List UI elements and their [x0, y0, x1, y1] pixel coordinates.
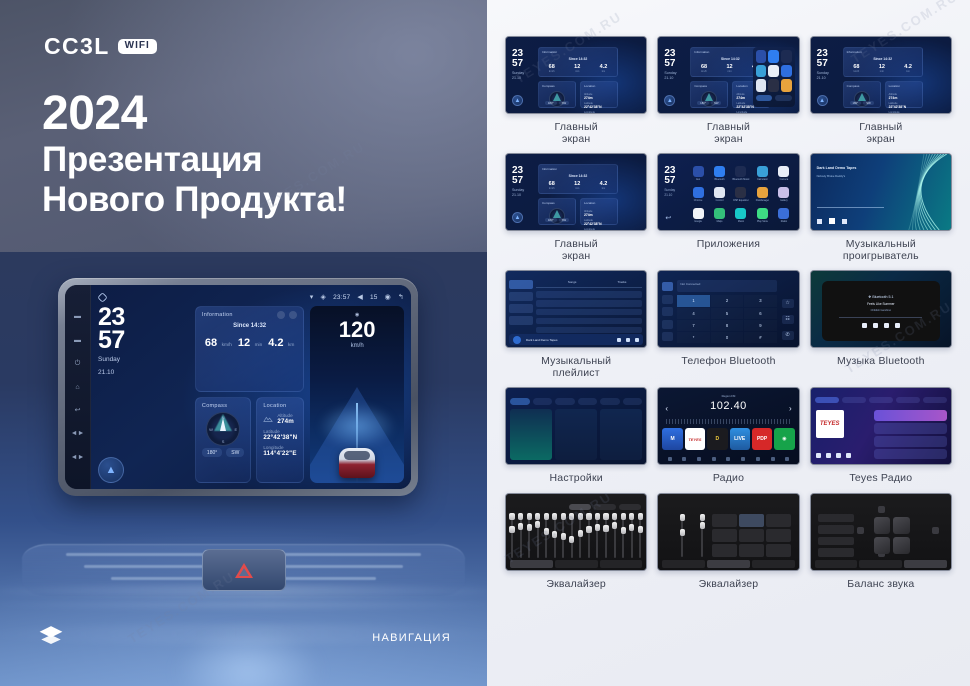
screen-cell-2[interactable]: 2357 Sunday21.10 ▲ Information Since 14:…: [657, 36, 799, 145]
list-item[interactable]: [536, 327, 642, 333]
radio-toolbar[interactable]: [662, 455, 794, 462]
vol-down-key[interactable]: ▬: [74, 337, 81, 344]
app-tile-filemanager[interactable]: FileManager: [753, 185, 772, 204]
app-tile-calculator[interactable]: Calculator: [753, 164, 772, 183]
eq-slider-thumb[interactable]: [638, 526, 643, 533]
mini-radio-screen[interactable]: Region FM ‹ 102.40 › M TEYES D LIVE PDP …: [658, 388, 798, 464]
information-card[interactable]: Information Since 14:32 68: [195, 306, 304, 392]
eq-band-13[interactable]: [614, 513, 616, 558]
eq-slider-thumb[interactable]: [527, 524, 532, 531]
tab-theme[interactable]: [578, 398, 598, 405]
preset-pop[interactable]: [619, 504, 641, 510]
app-tile-camera[interactable]: Camera: [774, 164, 793, 183]
mini-location-card[interactable]: Location Altitude274m Latitude22°42'38"N…: [580, 198, 618, 225]
preset-4[interactable]: [818, 548, 854, 557]
screen-thumbnail[interactable]: [657, 493, 799, 571]
mini-bluetooth-music[interactable]: ❖ Bluetooth 5.1 Feels Like Summer Childi…: [811, 271, 951, 347]
hazard-button[interactable]: [202, 549, 286, 591]
eq-slider-thumb[interactable]: [544, 528, 549, 535]
screen-cell-8[interactable]: Not Connected 123456789*0# ☆☷✆ Телефон B…: [657, 270, 799, 379]
stat-time-unit: min: [255, 343, 263, 348]
navigation-fab-button[interactable]: ▲: [98, 457, 124, 483]
preset-4[interactable]: [712, 529, 737, 542]
app-icon-aux[interactable]: [756, 50, 767, 63]
sidebar-item-tracks[interactable]: [509, 280, 533, 289]
preset-5[interactable]: [739, 529, 764, 542]
app-tile-radio[interactable]: Radio: [774, 206, 793, 225]
prev-icon[interactable]: [862, 323, 867, 328]
equalizer-presets[interactable]: [511, 504, 641, 510]
screen-thumbnail[interactable]: 2357 Sunday21.10 ▲ Information Since 14:…: [657, 36, 799, 114]
screen-thumbnail[interactable]: ❖ Bluetooth 5.1 Feels Like Summer Childi…: [810, 270, 952, 348]
eq-slider-thumb[interactable]: [629, 524, 634, 531]
eq-band-4[interactable]: [537, 513, 539, 558]
list-item[interactable]: [536, 300, 642, 306]
tab-fader[interactable]: [859, 560, 902, 568]
app-icon-camera[interactable]: [768, 65, 779, 78]
screen-thumbnail[interactable]: Dark Land Demo Tapes Nobody Broke Daddy'…: [810, 153, 952, 231]
eq-slider-thumb[interactable]: [561, 533, 566, 540]
power-key[interactable]: ⏻: [75, 360, 81, 367]
dialer-actions[interactable]: ☆☷✆: [780, 295, 796, 343]
preset-6[interactable]: [766, 529, 791, 542]
navigation-arrow-icon: ▲: [106, 464, 117, 476]
tab-field[interactable]: [600, 560, 643, 568]
preset-1[interactable]: M: [662, 428, 682, 450]
playlist-rows[interactable]: [536, 291, 642, 333]
screen-cell-11[interactable]: Region FM ‹ 102.40 › M TEYES D LIVE PDP …: [657, 387, 799, 484]
dial-key-8[interactable]: 8: [711, 320, 743, 331]
player-controls[interactable]: [817, 218, 847, 224]
mini-location-card[interactable]: Location Altitude274m Latitude22°42'38"N…: [580, 81, 618, 108]
tab-2[interactable]: [842, 397, 866, 403]
list-item[interactable]: [874, 436, 947, 447]
home-icon[interactable]: [97, 292, 107, 302]
next-station-icon[interactable]: ›: [789, 404, 792, 413]
app-icon-calculator[interactable]: [756, 65, 767, 78]
app-icon-dsp-equalizer[interactable]: [768, 79, 779, 92]
toolbar-icon-3[interactable]: [712, 457, 716, 461]
equalizer-tabs[interactable]: [510, 560, 642, 568]
eq-band-3[interactable]: [528, 513, 530, 558]
back-icon[interactable]: ↩: [665, 214, 671, 222]
pause-icon[interactable]: [626, 338, 630, 342]
stop-icon[interactable]: [826, 453, 831, 458]
mini-home-screen[interactable]: 2357 Sunday21.10 ▲ Information Since 14:…: [811, 37, 951, 113]
screen-cell-3[interactable]: 2357 Sunday21.10 ▲ Information Since 14:…: [810, 36, 952, 145]
back-icon[interactable]: ↰: [398, 293, 404, 301]
mini-compass-card[interactable]: Compass 180°SW: [843, 81, 881, 108]
eq-band-9[interactable]: [579, 513, 581, 558]
mini-apps-screen[interactable]: 2357 Sunday21.10 ↩ AuxBluetoothBluetooth…: [658, 154, 798, 230]
screen-cell-7[interactable]: SongsTracks Dark Land Demo Tapes Музыкал…: [505, 270, 647, 379]
mini-home-screen[interactable]: 2357 Sunday21.10 ▲ Information Since 14:…: [506, 154, 646, 230]
screen-thumbnail[interactable]: 2357 Sunday21.10 ▲ Information Since 14:…: [810, 36, 952, 114]
preset-3[interactable]: [766, 514, 791, 527]
dock-button-1[interactable]: [756, 95, 773, 101]
next-icon[interactable]: [842, 219, 847, 224]
radio-tuning-scale[interactable]: [666, 419, 790, 424]
app-icon-chrome: [693, 187, 704, 198]
sound-presets-grid[interactable]: [712, 514, 791, 557]
mini-bluetooth-phone[interactable]: Not Connected 123456789*0# ☆☷✆: [658, 271, 798, 347]
tab-sound[interactable]: [533, 398, 553, 405]
app-tile-music[interactable]: Music: [731, 206, 750, 225]
toolbar-icon-8[interactable]: [785, 457, 789, 461]
screen-cell-5[interactable]: 2357 Sunday21.10 ↩ AuxBluetoothBluetooth…: [657, 153, 799, 262]
eq-slider-thumb[interactable]: [518, 523, 523, 530]
app-tile-dsp-equalizer[interactable]: DSP Equalizer: [731, 185, 750, 204]
sidebar-item-recents[interactable]: [662, 320, 673, 329]
dial-key-1[interactable]: 1: [677, 295, 709, 306]
play-pause-icon[interactable]: [873, 323, 878, 328]
preset-2[interactable]: [818, 525, 854, 534]
slider-bass[interactable]: [681, 514, 683, 557]
preset-1[interactable]: [818, 514, 854, 523]
app-tile-aux[interactable]: Aux: [688, 164, 707, 183]
hud-panel[interactable]: ◉ 120 km/h: [310, 306, 404, 483]
mini-equalizer[interactable]: [506, 494, 646, 570]
preset-6[interactable]: ◉: [774, 428, 794, 450]
back-key[interactable]: ↩: [75, 407, 81, 414]
progress-bar[interactable]: [839, 317, 922, 318]
toolbar-icon-0[interactable]: [668, 457, 672, 461]
eq-band-6[interactable]: [554, 513, 556, 558]
slider-treble[interactable]: [701, 514, 703, 557]
fader-slider-thumb[interactable]: [680, 529, 685, 536]
screen-cell-1[interactable]: 2357 Sunday21.10 ▲ Information Since 14:…: [505, 36, 647, 145]
contacts-icon[interactable]: ☷: [782, 315, 794, 324]
mini-compass-card[interactable]: Compass 180°SW: [538, 198, 576, 225]
eq-slider-thumb[interactable]: [612, 522, 617, 529]
mini-clock: 2357: [664, 166, 675, 185]
tab-songs[interactable]: Songs: [568, 280, 577, 284]
preset-1[interactable]: [712, 514, 737, 527]
app-icon-chrome[interactable]: [781, 65, 792, 78]
dialer-keypad[interactable]: 123456789*0#: [677, 295, 776, 343]
tab-system[interactable]: [623, 398, 643, 405]
vol-up-key[interactable]: ▬: [74, 313, 81, 320]
eq-slider-thumb[interactable]: [586, 526, 591, 533]
information-card-actions[interactable]: [277, 311, 297, 319]
mini-stats: 68km/h12min4.2km: [539, 64, 617, 73]
station-list[interactable]: [874, 410, 947, 459]
eq-band-11[interactable]: [596, 513, 598, 558]
tab-fader[interactable]: [707, 560, 750, 568]
screen-thumbnail[interactable]: [505, 387, 647, 465]
mini-information-card[interactable]: Information Since 14:32 68km/h12min4.2km: [538, 164, 618, 194]
mini-compass-card[interactable]: Compass 180°SW: [690, 81, 728, 108]
preset-2[interactable]: [739, 514, 764, 527]
playlist-sidebar[interactable]: [509, 280, 533, 333]
eq-band-8[interactable]: [571, 513, 573, 558]
app-tile-control[interactable]: Control: [710, 185, 729, 204]
list-item[interactable]: [536, 309, 642, 315]
app-tile-play-store[interactable]: Play Store: [753, 206, 772, 225]
balance-left-arrow[interactable]: [857, 527, 864, 534]
mini-location-values: Altitude274m Latitude22°42'38"N Longitud…: [584, 91, 614, 114]
screen-thumbnail[interactable]: [810, 493, 952, 571]
mini-music-player[interactable]: Dark Land Demo Tapes Nobody Broke Daddy'…: [811, 154, 951, 230]
car-model-graphic: [339, 448, 375, 478]
sidebar-item-keypad[interactable]: [662, 282, 673, 291]
playlist-player-bar[interactable]: Dark Land Demo Tapes: [509, 334, 643, 345]
prev-icon[interactable]: [816, 453, 821, 458]
screen-thumbnail[interactable]: 2357 Sunday21.10 ↩ AuxBluetoothBluetooth…: [657, 153, 799, 231]
fader-slider-thumb[interactable]: [700, 522, 705, 529]
tab-fader[interactable]: [555, 560, 598, 568]
screen-thumbnail[interactable]: 2357 Sunday21.10 ▲ Information Since 14:…: [505, 36, 647, 114]
eq-slider-thumb[interactable]: [535, 521, 540, 528]
mini-teyes-radio[interactable]: TEYES: [811, 388, 951, 464]
toolbar-icon-6[interactable]: [756, 457, 760, 461]
preset-4[interactable]: LIVE: [730, 428, 750, 450]
eq-band-12[interactable]: [605, 513, 607, 558]
app-tile-maps[interactable]: Maps: [710, 206, 729, 225]
playlist-tabs[interactable]: SongsTracks: [536, 280, 642, 288]
eq-slider-thumb[interactable]: [578, 530, 583, 537]
mini-playlist-screen[interactable]: SongsTracks Dark Land Demo Tapes: [506, 271, 646, 347]
dial-key-0[interactable]: 0: [711, 332, 743, 343]
preset-8[interactable]: [739, 544, 764, 557]
screen-thumbnail[interactable]: SongsTracks Dark Land Demo Tapes: [505, 270, 647, 348]
teyes-radio-tabs[interactable]: [815, 397, 947, 403]
information-stats: 68 km/h 12 min 4.2: [202, 333, 297, 351]
compass-card[interactable]: Compass N S W E: [195, 397, 251, 483]
mini-compass-title: Compass: [542, 84, 555, 88]
eq-slider-thumb[interactable]: [569, 536, 574, 543]
preset-2[interactable]: TEYES: [685, 428, 705, 450]
screen-thumbnail[interactable]: Not Connected 123456789*0# ☆☷✆: [657, 270, 799, 348]
refresh-icon[interactable]: [289, 311, 297, 319]
prev-icon[interactable]: [617, 338, 621, 342]
app-tile-google[interactable]: Google: [688, 206, 707, 225]
screen-thumbnail[interactable]: 2357 Sunday21.10 ▲ Information Since 14:…: [505, 153, 647, 231]
dial-key-*[interactable]: *: [677, 332, 709, 343]
home-key[interactable]: ⌂: [75, 384, 79, 391]
screen-cell-12[interactable]: TEYES Teyes Радио: [810, 387, 952, 484]
settings-card-traffic usage[interactable]: [555, 409, 597, 460]
toolbar-icon-1[interactable]: [682, 457, 686, 461]
settings-card-wifi[interactable]: [510, 409, 552, 460]
screen-cell-15[interactable]: Баланс звука: [810, 493, 952, 590]
apps-icon[interactable]: ◉: [385, 293, 391, 301]
seat-fl[interactable]: [874, 517, 891, 534]
settings-tabs[interactable]: [510, 398, 642, 405]
mini-home-screen[interactable]: 2357 Sunday21.10 ▲ Information Since 14:…: [506, 37, 646, 113]
screen-thumbnail[interactable]: TEYES: [810, 387, 952, 465]
eq-band-10[interactable]: [588, 513, 590, 558]
settings-icon[interactable]: [277, 311, 285, 319]
tab-eq[interactable]: [662, 560, 705, 568]
tab-1[interactable]: [815, 397, 839, 403]
preset-7[interactable]: [712, 544, 737, 557]
bt-track-artist: Childish Gambino: [871, 309, 891, 312]
screen-thumbnail[interactable]: [505, 493, 647, 571]
preset-flat[interactable]: [569, 504, 591, 510]
tab-eq[interactable]: [815, 560, 858, 568]
dialer-sidebar[interactable]: [661, 280, 674, 343]
list-item[interactable]: [874, 423, 947, 434]
nav-key[interactable]: ◄►: [71, 430, 85, 437]
screen-cell-14[interactable]: Эквалайзер: [657, 493, 799, 590]
eq-slider-thumb[interactable]: [509, 526, 514, 533]
seat-fr[interactable]: [893, 517, 910, 534]
sidebar-item-favorites[interactable]: [509, 304, 533, 313]
list-item[interactable]: [874, 410, 947, 421]
balance-seat-pad[interactable]: [871, 514, 913, 557]
teyes-controls[interactable]: [816, 453, 858, 458]
next-icon[interactable]: [635, 338, 639, 342]
sidebar-item-contacts[interactable]: [662, 295, 673, 304]
apps-grid[interactable]: AuxBluetoothBluetooth MusicCalculatorCam…: [688, 164, 793, 225]
dial-key-7[interactable]: 7: [677, 320, 709, 331]
eq-slider-thumb[interactable]: [603, 525, 608, 532]
eq-slider-thumb[interactable]: [621, 527, 626, 534]
mute-key[interactable]: ◄►: [71, 454, 85, 461]
eq-band-14[interactable]: [622, 513, 624, 558]
tab-5[interactable]: [923, 397, 947, 403]
dial-key-2[interactable]: 2: [711, 295, 743, 306]
balance-right-arrow[interactable]: [932, 527, 939, 534]
mini-information-card[interactable]: Information Since 14:32 68km/h12min4.2km: [843, 47, 923, 77]
call-icon[interactable]: ✆: [782, 331, 794, 340]
equalizer-tabs[interactable]: [662, 560, 794, 568]
app-tile-gallery[interactable]: Gallery: [774, 185, 793, 204]
app-icon-filemanager[interactable]: [781, 79, 792, 92]
balance-up-arrow[interactable]: [878, 506, 885, 513]
settings-cards[interactable]: [510, 409, 642, 460]
now-playing-title: Dark Land Demo Tapes: [526, 338, 612, 342]
radio-presets[interactable]: M TEYES D LIVE PDP ◉: [662, 428, 794, 450]
preset-3[interactable]: [818, 537, 854, 546]
preset-rock[interactable]: [594, 504, 616, 510]
eq-band-2[interactable]: [520, 513, 522, 558]
stat-speed-unit: km/h: [222, 343, 232, 348]
app-icon-dsp-equalizer: [735, 187, 746, 198]
app-icon-control[interactable]: [756, 79, 767, 92]
balance-presets[interactable]: [818, 514, 854, 557]
eq-band-7[interactable]: [562, 513, 564, 558]
screen-cell-4[interactable]: 2357 Sunday21.10 ▲ Information Since 14:…: [505, 153, 647, 262]
eq-slider-thumb[interactable]: [595, 524, 600, 531]
next-icon[interactable]: [836, 453, 841, 458]
eq-band-1[interactable]: [511, 513, 513, 558]
mini-app-shortcuts[interactable]: [753, 47, 795, 107]
tab-wifi[interactable]: [510, 398, 530, 405]
dock-button-2[interactable]: [775, 95, 792, 101]
dial-key-4[interactable]: 4: [677, 308, 709, 319]
location-card[interactable]: Location Altitude 274m: [256, 397, 304, 483]
mini-equalizer-fader[interactable]: [658, 494, 798, 570]
preset-5[interactable]: PDP: [752, 428, 772, 450]
tab-3[interactable]: [869, 397, 893, 403]
equalizer-bands[interactable]: [511, 513, 641, 558]
dial-key-6[interactable]: 6: [744, 308, 776, 319]
eq-slider-thumb[interactable]: [552, 531, 557, 538]
head-unit-hard-keys[interactable]: ▬ ▬ ⏻ ⌂ ↩ ◄► ◄►: [65, 285, 91, 489]
favorite-icon[interactable]: [846, 453, 851, 458]
screen-thumbnail[interactable]: Region FM ‹ 102.40 › M TEYES D LIVE PDP …: [657, 387, 799, 465]
preset-3[interactable]: D: [707, 428, 727, 450]
bt-controls[interactable]: [862, 323, 900, 328]
tab-tracks[interactable]: Tracks: [618, 280, 627, 284]
mini-information-title: Information: [847, 50, 862, 54]
list-item[interactable]: [536, 291, 642, 297]
screen-cell-10[interactable]: Настройки: [505, 387, 647, 484]
mini-nav-fab[interactable]: ▲: [817, 95, 828, 106]
toolbar-icon-7[interactable]: [771, 457, 775, 461]
pause-icon[interactable]: [829, 218, 835, 224]
equalizer-tabs[interactable]: [815, 560, 947, 568]
dial-key-9[interactable]: 9: [744, 320, 776, 331]
dial-key-3[interactable]: 3: [744, 295, 776, 306]
mini-nav-fab[interactable]: ▲: [664, 95, 675, 106]
screen-cell-13[interactable]: Эквалайзер: [505, 493, 647, 590]
app-tile-chrome[interactable]: Chrome: [688, 185, 707, 204]
settings-card-more[interactable]: [600, 409, 642, 460]
list-item[interactable]: [874, 449, 947, 460]
toolbar-icon-4[interactable]: [726, 457, 730, 461]
tab-vehicle[interactable]: [600, 398, 620, 405]
mini-sound-balance[interactable]: [811, 494, 951, 570]
sidebar-item-folders[interactable]: [509, 316, 533, 325]
app-icon-bluetooth[interactable]: [768, 50, 779, 63]
app-tile-bluetooth[interactable]: Bluetooth: [710, 164, 729, 183]
prev-icon[interactable]: [817, 219, 822, 224]
tab-field[interactable]: [904, 560, 947, 568]
progress-bar[interactable]: [817, 207, 884, 208]
sidebar-item-settings[interactable]: [662, 332, 673, 341]
dial-key-#[interactable]: #: [744, 332, 776, 343]
tab-field[interactable]: [752, 560, 795, 568]
mini-location-card[interactable]: Location Altitude274m Latitude22°42'38"N…: [885, 81, 923, 108]
screen-caption: Радио: [713, 472, 744, 484]
seat-rl[interactable]: [874, 537, 891, 554]
mini-compass-card[interactable]: Compass 180°SW: [538, 81, 576, 108]
star-icon[interactable]: ☆: [782, 299, 794, 308]
list-item[interactable]: [536, 318, 642, 324]
preset-9[interactable]: [766, 544, 791, 557]
app-icon-bluetooth-music[interactable]: [781, 50, 792, 63]
tab-4[interactable]: [896, 397, 920, 403]
app-tile-bluetooth-music[interactable]: Bluetooth Music: [731, 164, 750, 183]
stop-icon[interactable]: [884, 323, 889, 328]
screen-cell-9[interactable]: ❖ Bluetooth 5.1 Feels Like Summer Childi…: [810, 270, 952, 379]
eq-band-15[interactable]: [631, 513, 633, 558]
mini-nav-fab[interactable]: ▲: [512, 212, 523, 223]
next-icon[interactable]: [895, 323, 900, 328]
eq-band-16[interactable]: [639, 513, 641, 558]
presentation-slide: CC3L WIFI 2024 Презентация Нового Продук…: [0, 0, 970, 686]
head-unit-screen[interactable]: ▾ ◈ 23:57 ◀ 15 ◉ ↰: [91, 285, 411, 489]
toolbar-icon-5[interactable]: [741, 457, 745, 461]
sidebar-item-search[interactable]: [662, 307, 673, 316]
sidebar-item-albums[interactable]: [509, 292, 533, 301]
mini-nav-fab[interactable]: ▲: [512, 95, 523, 106]
eq-band-5[interactable]: [545, 513, 547, 558]
dial-key-5[interactable]: 5: [711, 308, 743, 319]
tab-display[interactable]: [555, 398, 575, 405]
toolbar-icon-2[interactable]: [697, 457, 701, 461]
fader-sliders[interactable]: [672, 514, 712, 557]
mini-information-card[interactable]: Information Since 14:32 68km/h12min4.2km: [538, 47, 618, 77]
screen-cell-6[interactable]: Dark Land Demo Tapes Nobody Broke Daddy'…: [810, 153, 952, 262]
head-unit-device: ▬ ▬ ⏻ ⌂ ↩ ◄► ◄► ▾ ◈: [58, 278, 418, 496]
seat-rr[interactable]: [893, 537, 910, 554]
tab-eq[interactable]: [510, 560, 553, 568]
mini-settings-screen[interactable]: [506, 388, 646, 464]
